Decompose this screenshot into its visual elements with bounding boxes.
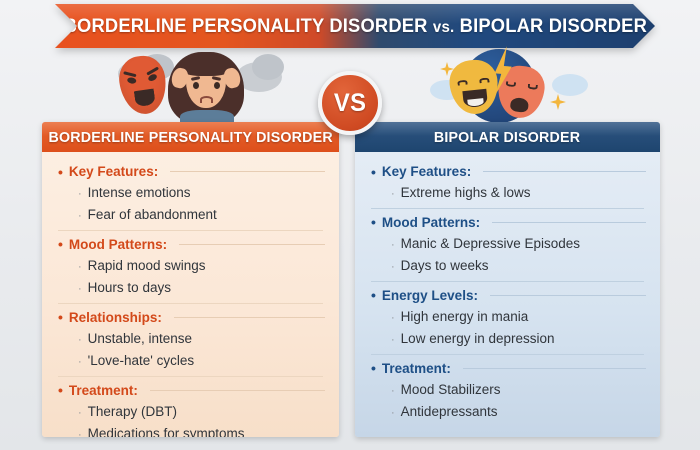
- list-item-label: Hours to days: [88, 278, 171, 298]
- sub-bullet-icon: ·: [78, 333, 82, 349]
- sub-bullet-icon: ·: [78, 406, 82, 422]
- list-item: ·Extreme highs & lows: [369, 182, 646, 204]
- bpd-panel-body: •Key Features:·Intense emotions·Fear of …: [42, 152, 339, 437]
- list-item-label: Antidepressants: [401, 402, 498, 422]
- bpd-panel-header: BORDERLINE PERSONALITY DISORDER: [42, 122, 339, 152]
- feature-group-label: Treatment:: [69, 383, 138, 398]
- bullet-icon: •: [371, 288, 376, 302]
- bullet-icon: •: [58, 310, 63, 324]
- sub-bullet-icon: ·: [78, 187, 82, 203]
- list-item: ·Mood Stabilizers: [369, 379, 646, 401]
- sub-bullet-icon: ·: [391, 384, 395, 400]
- group-separator: [58, 230, 323, 231]
- bullet-icon: •: [371, 165, 376, 179]
- feature-group-heading: •Mood Patterns:: [369, 213, 646, 233]
- page-title-left: BORDERLINE PERSONALITY DISORDER: [63, 15, 427, 37]
- vs-badge-label: VS: [334, 89, 367, 118]
- group-separator: [371, 281, 644, 282]
- feature-group-heading: •Key Features:: [56, 162, 325, 182]
- feature-group: •Energy Levels:·High energy in mania·Low…: [369, 286, 646, 350]
- feature-group-heading: •Energy Levels:: [369, 286, 646, 306]
- bpd-illustration: [118, 46, 283, 124]
- list-item-label: Extreme highs & lows: [401, 183, 531, 203]
- sub-bullet-icon: ·: [391, 238, 395, 254]
- feature-group-heading: •Relationships:: [56, 308, 325, 328]
- feature-group: •Treatment:·Mood Stabilizers·Antidepress…: [369, 359, 646, 423]
- bullet-icon: •: [58, 383, 63, 397]
- feature-group: •Key Features:·Extreme highs & lows: [369, 162, 646, 204]
- bullet-icon: •: [58, 237, 63, 251]
- feature-group-heading: •Mood Patterns:: [56, 235, 325, 255]
- group-separator: [371, 208, 644, 209]
- sub-bullet-icon: ·: [78, 209, 82, 225]
- bipolar-panel-title: BIPOLAR DISORDER: [434, 129, 580, 146]
- bpd-panel: BORDERLINE PERSONALITY DISORDER •Key Fea…: [42, 122, 339, 437]
- storm-cloud-icon: [252, 54, 284, 80]
- list-item: ·Fear of abandonment: [56, 204, 325, 226]
- list-item-label: Therapy (DBT): [88, 402, 177, 422]
- feature-group-label: Key Features:: [69, 164, 158, 179]
- heading-rule: [179, 244, 325, 245]
- list-item: ·Manic & Depressive Episodes: [369, 233, 646, 255]
- feature-group: •Mood Patterns:·Rapid mood swings·Hours …: [56, 235, 325, 299]
- feature-group: •Mood Patterns:·Manic & Depressive Episo…: [369, 213, 646, 277]
- feature-group-label: Energy Levels:: [382, 288, 478, 303]
- feature-group: •Key Features:·Intense emotions·Fear of …: [56, 162, 325, 226]
- bullet-icon: •: [58, 165, 63, 179]
- group-separator: [58, 303, 323, 304]
- bipolar-illustration: [428, 46, 593, 124]
- sub-bullet-icon: ·: [78, 355, 82, 371]
- bipolar-panel: BIPOLAR DISORDER •Key Features:·Extreme …: [355, 122, 660, 437]
- bullet-icon: •: [371, 361, 376, 375]
- sparkle-icon: [550, 94, 566, 110]
- bullet-icon: •: [371, 215, 376, 229]
- list-item-label: Mood Stabilizers: [401, 380, 501, 400]
- feature-group-label: Treatment:: [382, 361, 451, 376]
- list-item: ·Intense emotions: [56, 182, 325, 204]
- sub-bullet-icon: ·: [78, 428, 82, 437]
- title-ribbon-shape: BORDERLINE PERSONALITY DISORDER vs. BIPO…: [55, 4, 655, 48]
- feature-group: •Relationships:·Unstable, intense·'Love-…: [56, 308, 325, 372]
- cloud-icon: [552, 74, 588, 96]
- heading-rule: [150, 390, 325, 391]
- page-title-vs: vs.: [433, 19, 454, 36]
- list-item: ·Unstable, intense: [56, 328, 325, 350]
- list-item: ·Medications for symptoms: [56, 423, 325, 437]
- sub-bullet-icon: ·: [391, 187, 395, 203]
- sub-bullet-icon: ·: [391, 333, 395, 349]
- feature-group-heading: •Key Features:: [369, 162, 646, 182]
- vs-badge: VS: [318, 71, 382, 135]
- heading-rule: [483, 171, 646, 172]
- sub-bullet-icon: ·: [78, 282, 82, 298]
- heading-rule: [490, 295, 646, 296]
- heading-rule: [170, 171, 325, 172]
- list-item-label: Unstable, intense: [88, 329, 192, 349]
- list-item-label: Medications for symptoms: [88, 424, 245, 437]
- feature-group-label: Mood Patterns:: [69, 237, 167, 252]
- sub-bullet-icon: ·: [391, 311, 395, 327]
- list-item: ·Antidepressants: [369, 401, 646, 423]
- list-item: ·Hours to days: [56, 277, 325, 299]
- heading-rule: [463, 368, 646, 369]
- list-item: ·Days to weeks: [369, 255, 646, 277]
- sub-bullet-icon: ·: [391, 260, 395, 276]
- list-item-label: Low energy in depression: [401, 329, 555, 349]
- sub-bullet-icon: ·: [78, 260, 82, 276]
- list-item-label: High energy in mania: [401, 307, 529, 327]
- group-separator: [58, 376, 323, 377]
- bpd-panel-title: BORDERLINE PERSONALITY DISORDER: [48, 129, 332, 146]
- feature-group-label: Mood Patterns:: [382, 215, 480, 230]
- list-item: ·Therapy (DBT): [56, 401, 325, 423]
- title-ribbon: BORDERLINE PERSONALITY DISORDER vs. BIPO…: [55, 4, 655, 48]
- feature-group-heading: •Treatment:: [56, 381, 325, 401]
- feature-group-label: Key Features:: [382, 164, 471, 179]
- heading-rule: [492, 222, 646, 223]
- list-item: ·'Love-hate' cycles: [56, 350, 325, 372]
- distressed-woman-icon: [158, 48, 254, 124]
- sub-bullet-icon: ·: [391, 406, 395, 422]
- list-item-label: Fear of abandonment: [88, 205, 217, 225]
- list-item-label: 'Love-hate' cycles: [88, 351, 194, 371]
- list-item-label: Manic & Depressive Episodes: [401, 234, 580, 254]
- list-item: ·Low energy in depression: [369, 328, 646, 350]
- page-title-right: BIPOLAR DISORDER: [459, 15, 646, 37]
- bipolar-panel-header: BIPOLAR DISORDER: [355, 122, 660, 152]
- page-title: BORDERLINE PERSONALITY DISORDER vs. BIPO…: [63, 15, 646, 38]
- feature-group-heading: •Treatment:: [369, 359, 646, 379]
- list-item-label: Intense emotions: [88, 183, 191, 203]
- list-item: ·High energy in mania: [369, 306, 646, 328]
- list-item-label: Rapid mood swings: [88, 256, 206, 276]
- bipolar-panel-body: •Key Features:·Extreme highs & lows•Mood…: [355, 152, 660, 432]
- feature-group-label: Relationships:: [69, 310, 162, 325]
- feature-group: •Treatment:·Therapy (DBT)·Medications fo…: [56, 381, 325, 437]
- heading-rule: [174, 317, 325, 318]
- list-item-label: Days to weeks: [401, 256, 489, 276]
- list-item: ·Rapid mood swings: [56, 255, 325, 277]
- group-separator: [371, 354, 644, 355]
